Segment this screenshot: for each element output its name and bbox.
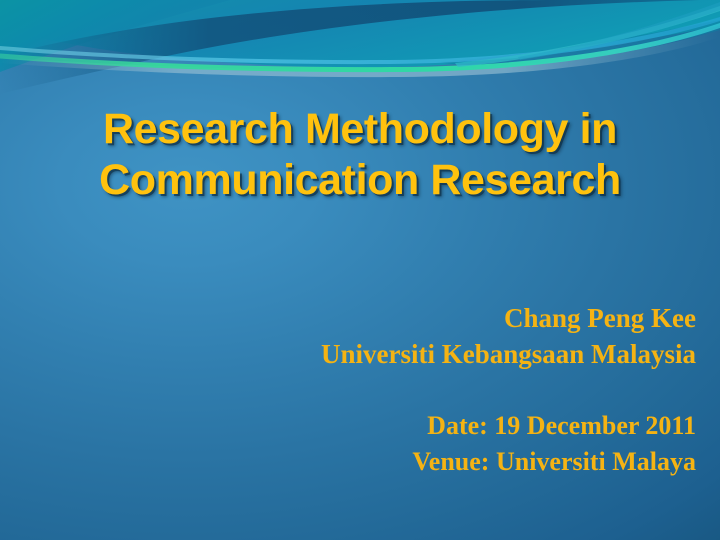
wave-secondary-band <box>440 20 720 65</box>
author-affiliation: Universiti Kebangsaan Malaysia <box>0 336 696 372</box>
wave-green-hairline <box>0 23 720 72</box>
wave-teal-corner <box>0 0 230 72</box>
wave-topright-line <box>455 6 720 67</box>
slide-credits: Chang Peng Kee Universiti Kebangsaan Mal… <box>0 300 720 480</box>
presentation-slide: Research Methodology in Communication Re… <box>0 0 720 540</box>
wave-teal-field <box>0 0 720 67</box>
slide-title: Research Methodology in Communication Re… <box>0 104 720 206</box>
title-line-2: Communication Research <box>0 155 720 206</box>
wave-pale-line <box>0 30 720 77</box>
wave-svg <box>0 0 720 120</box>
credits-spacer <box>0 372 696 408</box>
author-name: Chang Peng Kee <box>0 300 696 336</box>
swoosh-wave-band-decoration <box>0 0 720 120</box>
wave-dark-arc <box>0 0 700 94</box>
wave-cyan-hairline <box>0 17 720 64</box>
event-venue: Venue: Universiti Malaya <box>0 444 696 480</box>
event-date: Date: 19 December 2011 <box>0 408 696 444</box>
title-line-1: Research Methodology in <box>0 104 720 155</box>
wave-topright-line-2 <box>518 2 720 60</box>
